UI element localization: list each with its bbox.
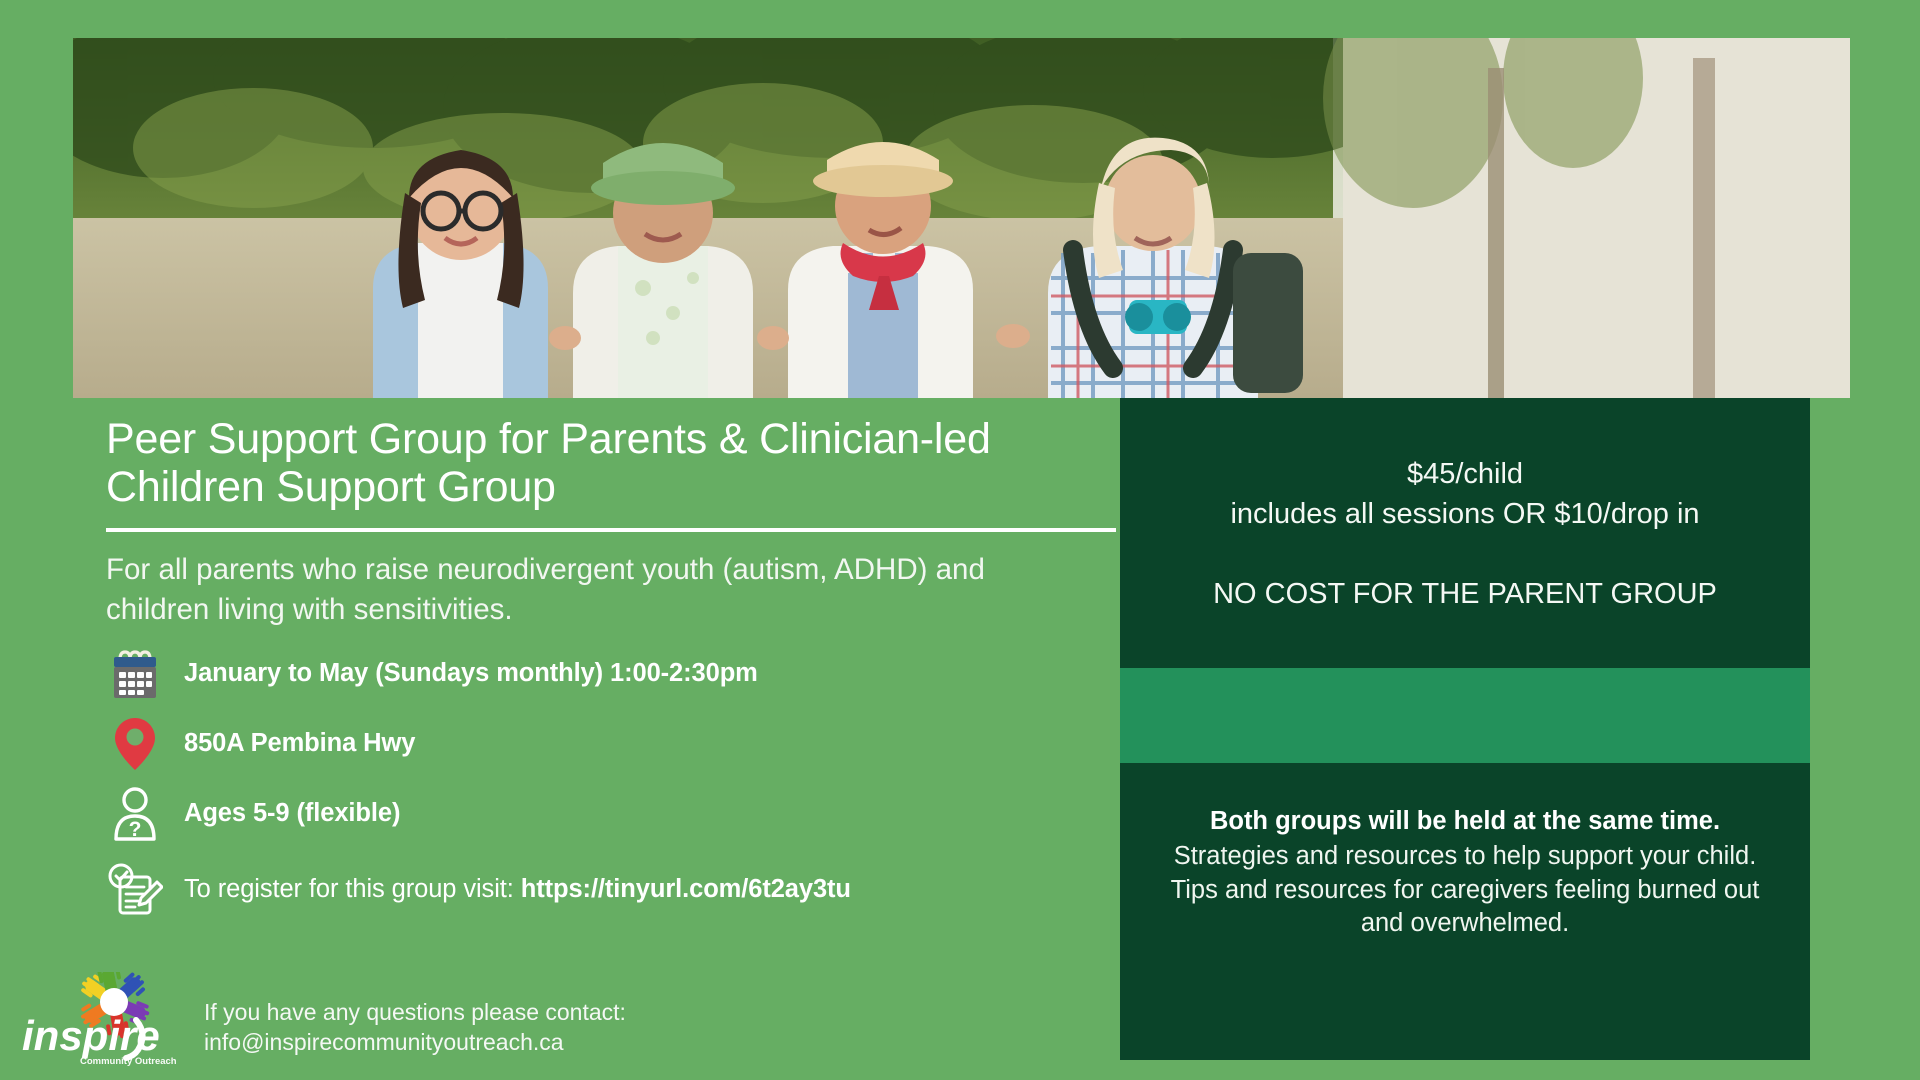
detail-ages-text: Ages 5-9 (flexible) <box>184 799 400 828</box>
footer: inspire Community Outreach Inc. If you h… <box>18 972 626 1072</box>
title-divider <box>106 528 1116 532</box>
info-panel: Both groups will be held at the same tim… <box>1120 763 1810 1060</box>
inspire-logo-mark: inspire Community Outreach Inc. <box>18 972 178 1072</box>
svg-text:?: ? <box>129 818 142 841</box>
hero-photo-illustration <box>73 38 1850 398</box>
main-content-column: Peer Support Group for Parents & Clinici… <box>106 415 1116 921</box>
detail-row-ages: ? Ages 5-9 (flexible) <box>106 783 1116 845</box>
subtitle-description: For all parents who raise neurodivergent… <box>106 550 1086 628</box>
detail-row-register: To register for this group visit: https:… <box>106 859 1116 921</box>
pricing-panel: $45/child includes all sessions OR $10/d… <box>1120 398 1810 668</box>
detail-location-text: 850A Pembina Hwy <box>184 729 415 758</box>
location-pin-icon <box>106 715 164 773</box>
contact-info[interactable]: If you have any questions please contact… <box>204 998 626 1072</box>
no-cost-note: NO COST FOR THE PARENT GROUP <box>1213 578 1717 611</box>
inspire-logo-tagline: Community Outreach Inc. <box>80 1056 178 1067</box>
detail-date-text: January to May (Sundays monthly) 1:00-2:… <box>184 659 758 688</box>
inspire-logo: inspire Community Outreach Inc. <box>18 972 178 1072</box>
info-panel-title: Both groups will be held at the same tim… <box>1154 805 1776 838</box>
person-question-icon: ? <box>106 785 164 843</box>
clipboard-check-pencil-icon <box>106 861 164 919</box>
register-url[interactable]: https://tinyurl.com/6t2ay3tu <box>521 875 851 903</box>
detail-rows: January to May (Sundays monthly) 1:00-2:… <box>106 643 1116 921</box>
detail-row-location: 850A Pembina Hwy <box>106 713 1116 775</box>
price-line-1: $45/child <box>1230 455 1699 494</box>
calendar-icon <box>106 645 164 703</box>
hero-photo <box>73 38 1850 398</box>
page-title: Peer Support Group for Parents & Clinici… <box>106 415 1086 511</box>
accent-divider-band <box>1120 668 1810 763</box>
price-line-2: includes all sessions OR $10/drop in <box>1230 495 1699 534</box>
price-block: $45/child includes all sessions OR $10/d… <box>1230 455 1699 533</box>
register-text[interactable]: To register for this group visit: https:… <box>184 875 851 904</box>
info-panel-body: Strategies and resources to help support… <box>1154 840 1776 941</box>
register-prefix: To register for this group visit: <box>184 875 521 903</box>
detail-row-date: January to May (Sundays monthly) 1:00-2:… <box>106 643 1116 705</box>
